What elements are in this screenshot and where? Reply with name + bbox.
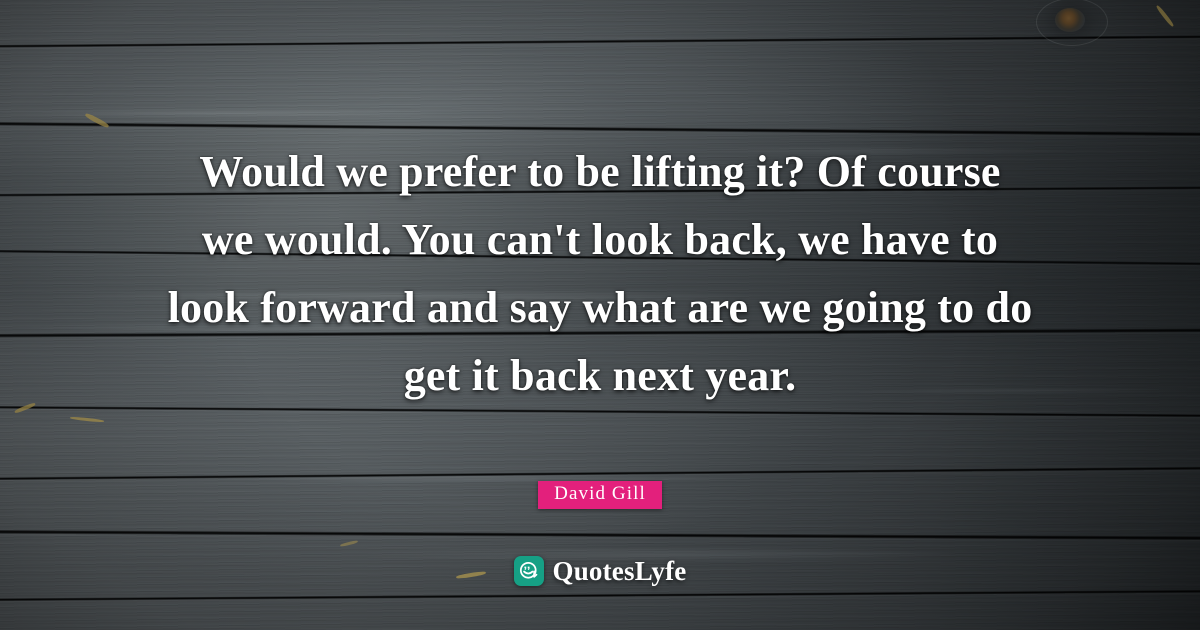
quoteslyfe-smiley-icon: [514, 556, 544, 586]
quote-line: Would we prefer to be lifting it? Of cou…: [135, 138, 1065, 206]
quote-line: look forward and say what are we going t…: [135, 274, 1065, 342]
brand-name: QuotesLyfe: [553, 556, 687, 586]
quote-line: we would. You can't look back, we have t…: [135, 206, 1065, 274]
quote-line: get it back next year.: [135, 342, 1065, 410]
quote-card: Would we prefer to be lifting it? Of cou…: [0, 0, 1200, 630]
quote-text: Would we prefer to be lifting it? Of cou…: [135, 138, 1065, 410]
author-badge[interactable]: David Gill: [538, 481, 662, 509]
brand-logo[interactable]: QuotesLyfe: [0, 556, 1200, 586]
card-content: Would we prefer to be lifting it? Of cou…: [0, 0, 1200, 630]
